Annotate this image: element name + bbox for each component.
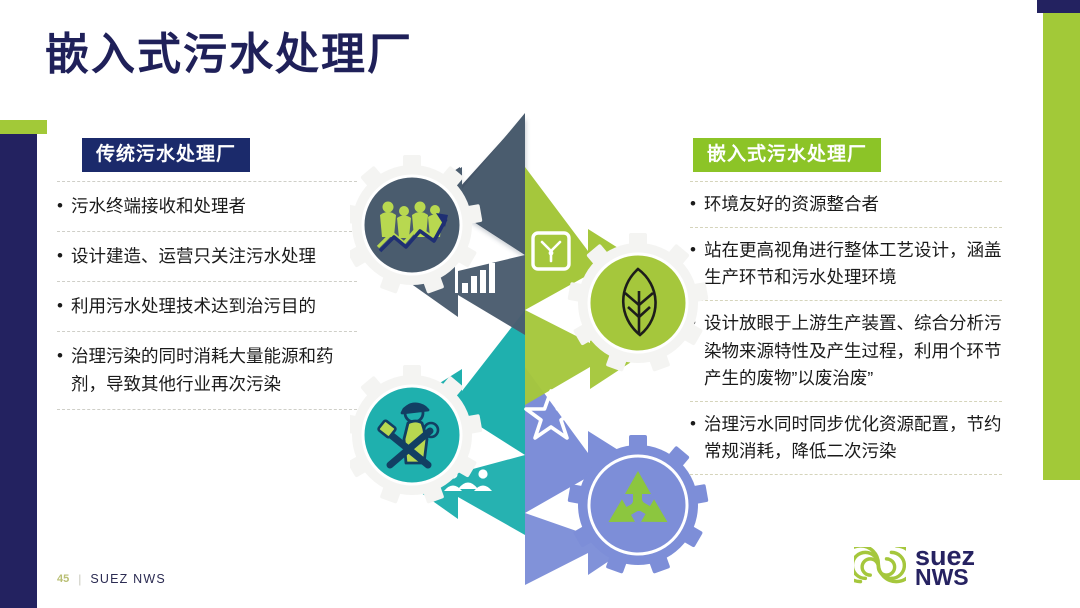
divider <box>690 474 1002 475</box>
suez-nws-wordmark: suez NWS <box>915 545 975 588</box>
list-item: • 污水终端接收和处理者 <box>57 182 357 231</box>
footer-divider: | <box>78 572 81 586</box>
bullet-text: 站在更高视角进行整体工艺设计，涵盖生产环节和污水处理环境 <box>704 237 1002 291</box>
list-item: • 利用污水处理技术达到治污目的 <box>57 282 357 331</box>
bullet-text: 治理污染的同时消耗大量能源和药剂，导致其他行业再次污染 <box>71 343 357 397</box>
right-column-heading: 嵌入式污水处理厂 <box>693 138 881 172</box>
list-item: • 治理污染的同时消耗大量能源和药剂，导致其他行业再次污染 <box>57 332 357 408</box>
bullet-text: 设计建造、运营只关注污水处理 <box>71 243 357 270</box>
suez-swirl-icon <box>854 547 906 587</box>
right-edge-green-bar <box>1043 13 1080 480</box>
bullet-text: 环境友好的资源整合者 <box>704 191 1002 218</box>
right-edge-navy-accent <box>1037 0 1080 13</box>
left-edge-green-accent <box>0 120 47 134</box>
bullet-dot: • <box>57 193 71 219</box>
bullet-text: 设计放眼于上游生产装置、综合分析污染物来源特性及产生过程，利用个环节产生的废物”… <box>704 310 1002 391</box>
list-item: • 设计放眼于上游生产装置、综合分析污染物来源特性及产生过程，利用个环节产生的废… <box>690 301 1002 400</box>
list-item: • 治理污水同时同步优化资源配置，节约常规消耗，降低二次污染 <box>690 402 1002 474</box>
list-item: • 环境友好的资源整合者 <box>690 182 1002 227</box>
right-column: 嵌入式污水处理厂 • 环境友好的资源整合者 • 站在更高视角进行整体工艺设计，涵… <box>690 138 1002 475</box>
page-number: 45 <box>57 573 69 585</box>
center-process-graphic <box>350 105 710 585</box>
list-item: • 站在更高视角进行整体工艺设计，涵盖生产环节和污水处理环境 <box>690 228 1002 300</box>
bullet-text: 治理污水同时同步优化资源配置，节约常规消耗，降低二次污染 <box>704 411 1002 465</box>
bullet-dot: • <box>57 243 71 269</box>
left-column-heading: 传统污水处理厂 <box>82 138 250 172</box>
page-title: 嵌入式污水处理厂 <box>45 31 413 79</box>
suez-nws-logo: suez NWS <box>854 545 975 588</box>
footer-brand: SUEZ NWS <box>90 572 166 586</box>
list-item: • 设计建造、运营只关注污水处理 <box>57 232 357 281</box>
left-column: 传统污水处理厂 • 污水终端接收和处理者 • 设计建造、运营只关注污水处理 • … <box>57 138 357 410</box>
bullet-dot: • <box>57 343 71 369</box>
divider <box>57 409 357 410</box>
slide: 嵌入式污水处理厂 传统污水处理厂 • 污水终端接收和处理者 • 设计建造、运营只… <box>0 0 1080 608</box>
left-edge-navy-bar <box>0 134 37 608</box>
logo-line-nws: NWS <box>915 568 975 588</box>
bullet-text: 污水终端接收和处理者 <box>71 193 357 220</box>
bullet-text: 利用污水处理技术达到治污目的 <box>71 293 357 320</box>
footer: 45 | SUEZ NWS <box>57 572 166 586</box>
bullet-dot: • <box>57 293 71 319</box>
